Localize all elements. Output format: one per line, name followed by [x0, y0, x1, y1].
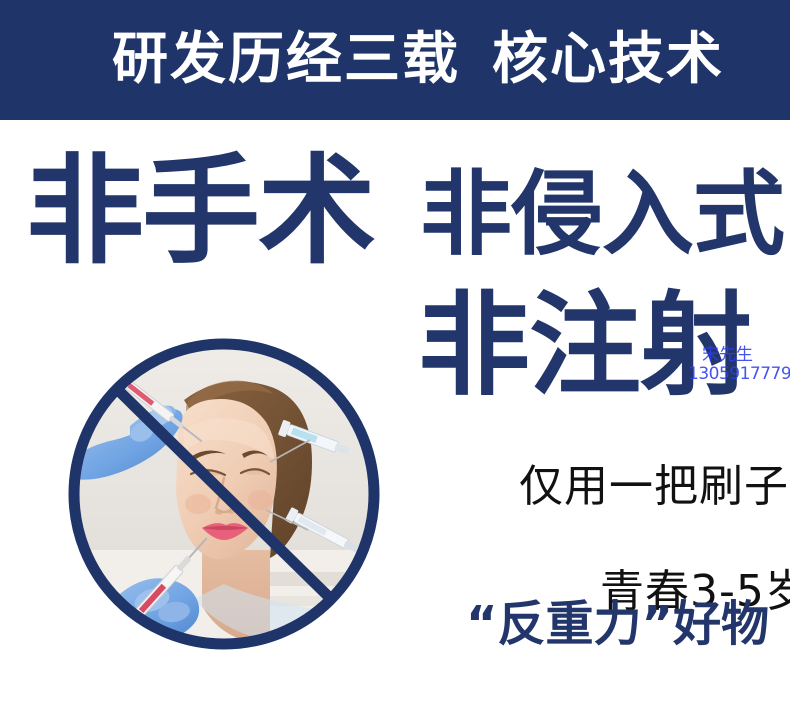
subcopy-line-3: “反重力”好物: [466, 597, 769, 651]
headline-non-surgical: 非手术: [26, 151, 374, 271]
prohibited-treatment-photo: [68, 338, 380, 650]
header-title: 研发历经三载 核心技术: [112, 29, 724, 91]
headline-non-injection: 非注射: [418, 288, 751, 404]
prohibition-sign-icon: [68, 338, 380, 650]
subcopy-line-1: 仅用一把刷子: [519, 462, 789, 512]
headline-row-primary: 非手术 非侵入式: [26, 151, 766, 271]
headline-non-invasive: 非侵入式: [420, 165, 784, 265]
promotional-poster: 研发历经三载 核心技术 非手术 非侵入式 非注射 宋先生 13059177793: [0, 0, 790, 726]
header-banner: 研发历经三载 核心技术: [0, 0, 790, 120]
